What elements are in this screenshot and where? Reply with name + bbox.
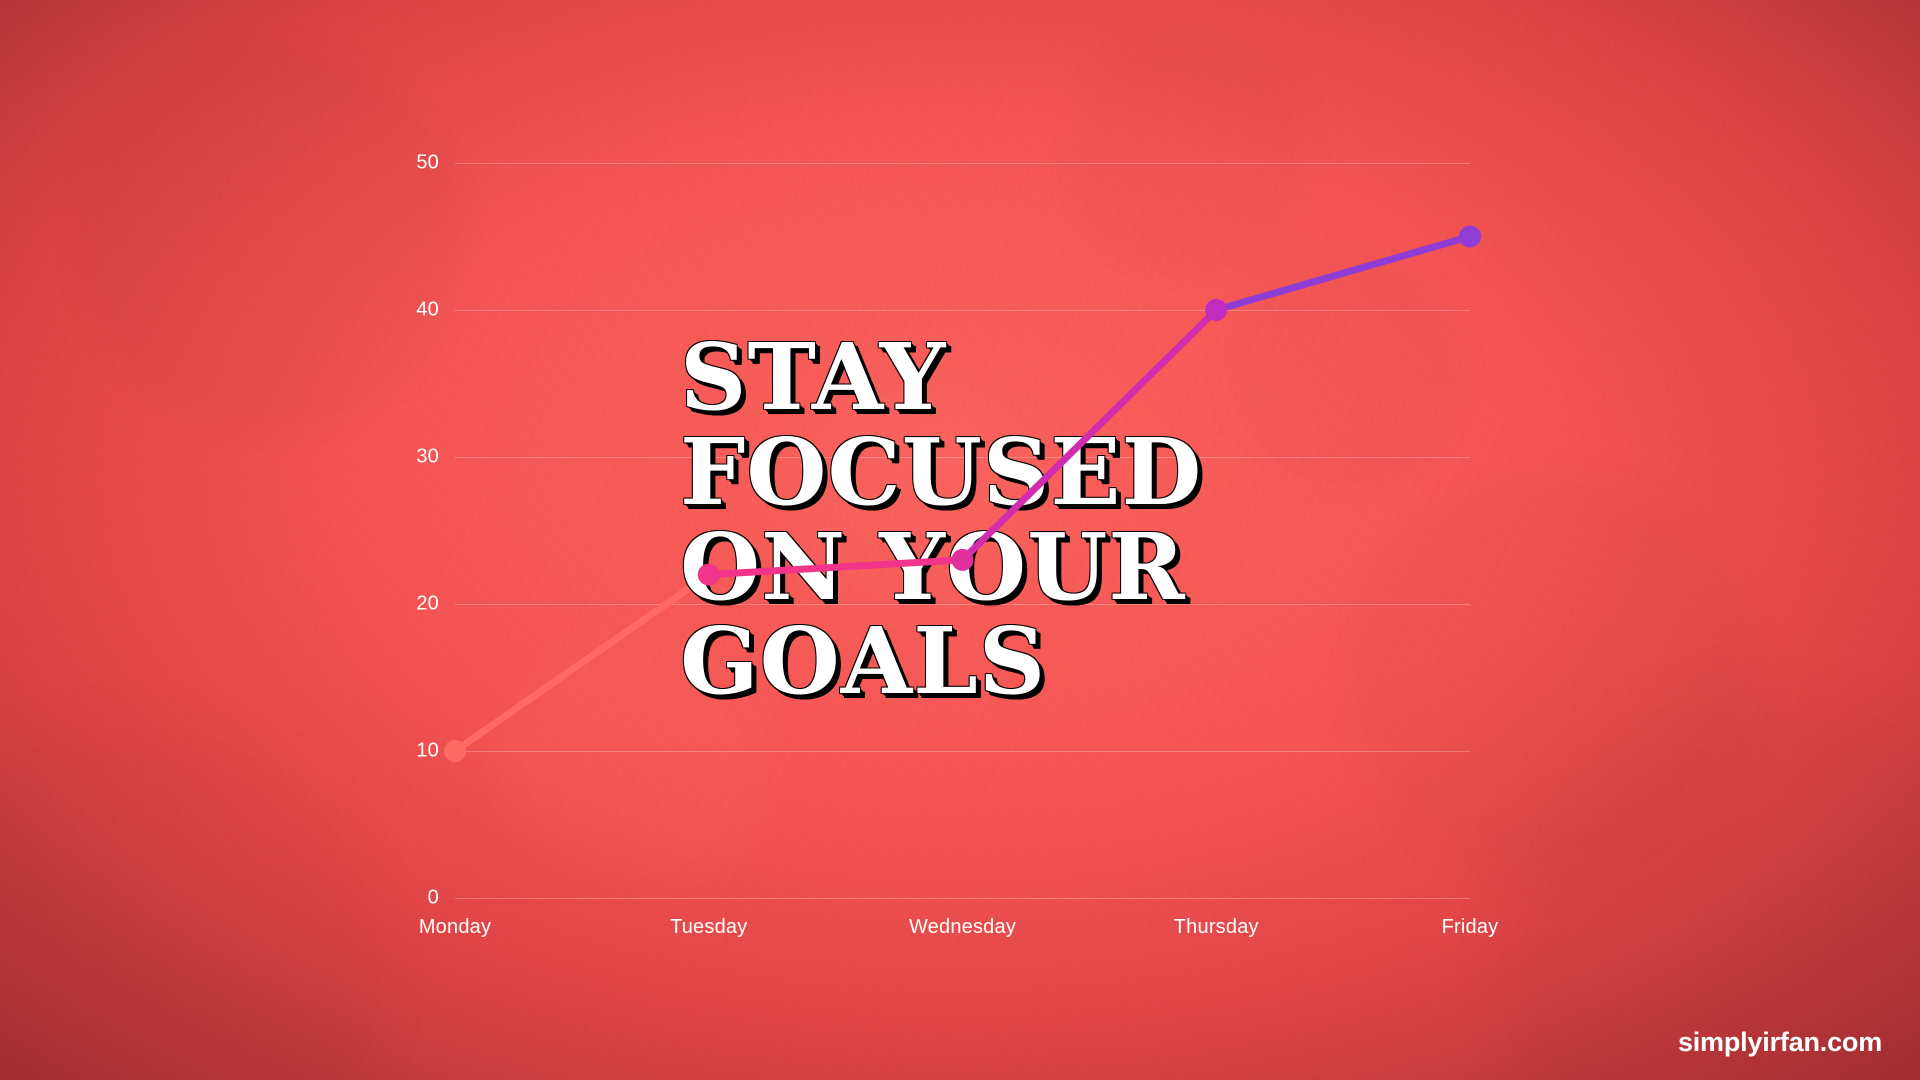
- headline-line-1: STAY: [680, 330, 1240, 425]
- headline-block: STAY FOCUSED ON YOUR GOALS: [680, 330, 1240, 709]
- slide-canvas: 50 40 30 20 10 0 Monday Tuesday Wednesda…: [0, 0, 1920, 1080]
- headline-line-2: FOCUSED: [680, 425, 1240, 520]
- watermark: simplyirfan.com: [1678, 1027, 1882, 1058]
- headline-line-3: ON YOUR: [680, 520, 1240, 615]
- headline-line-4: GOALS: [680, 614, 1240, 709]
